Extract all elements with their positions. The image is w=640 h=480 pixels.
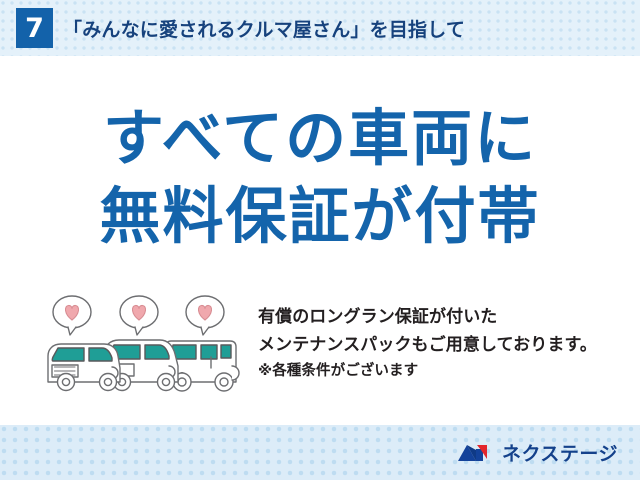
body-copy-block: 有償のロングラン保証が付いた メンテナンスパックもご用意しております。 ※各種条… — [258, 304, 618, 384]
nextstage-logo-text: ネクステージ — [502, 439, 618, 466]
copy-note: ※各種条件がございます — [258, 359, 618, 384]
nextstage-n-logo-icon — [457, 441, 495, 465]
header-title: 「みんなに愛されるクルマ屋さん」を目指して — [63, 15, 465, 42]
banner-header: 7 「みんなに愛されるクルマ屋さん」を目指して — [0, 0, 640, 56]
heart-bubble-icon — [186, 296, 224, 335]
nextstage-logo: ネクステージ — [457, 439, 618, 466]
copy-line-2: メンテナンスパックもご用意しております。 — [258, 332, 618, 360]
header-number-badge: 7 — [16, 8, 53, 48]
copy-line-1: 有償のロングラン保証が付いた — [258, 304, 618, 332]
heart-bubble-icon — [53, 296, 91, 335]
promo-banner: 7 「みんなに愛されるクルマ屋さん」を目指して すべての車両に 無料保証が付帯 — [0, 0, 640, 480]
heart-bubble-icon — [120, 296, 158, 335]
cars-with-hearts-illustration — [42, 294, 257, 399]
banner-body: すべての車両に 無料保証が付帯 — [0, 56, 640, 425]
car-kei-van-illustration — [48, 344, 120, 391]
banner-footer: ネクステージ — [0, 425, 640, 480]
headline-line-1: すべての車両に — [0, 108, 640, 169]
headline-line-2: 無料保証が付帯 — [0, 186, 640, 247]
